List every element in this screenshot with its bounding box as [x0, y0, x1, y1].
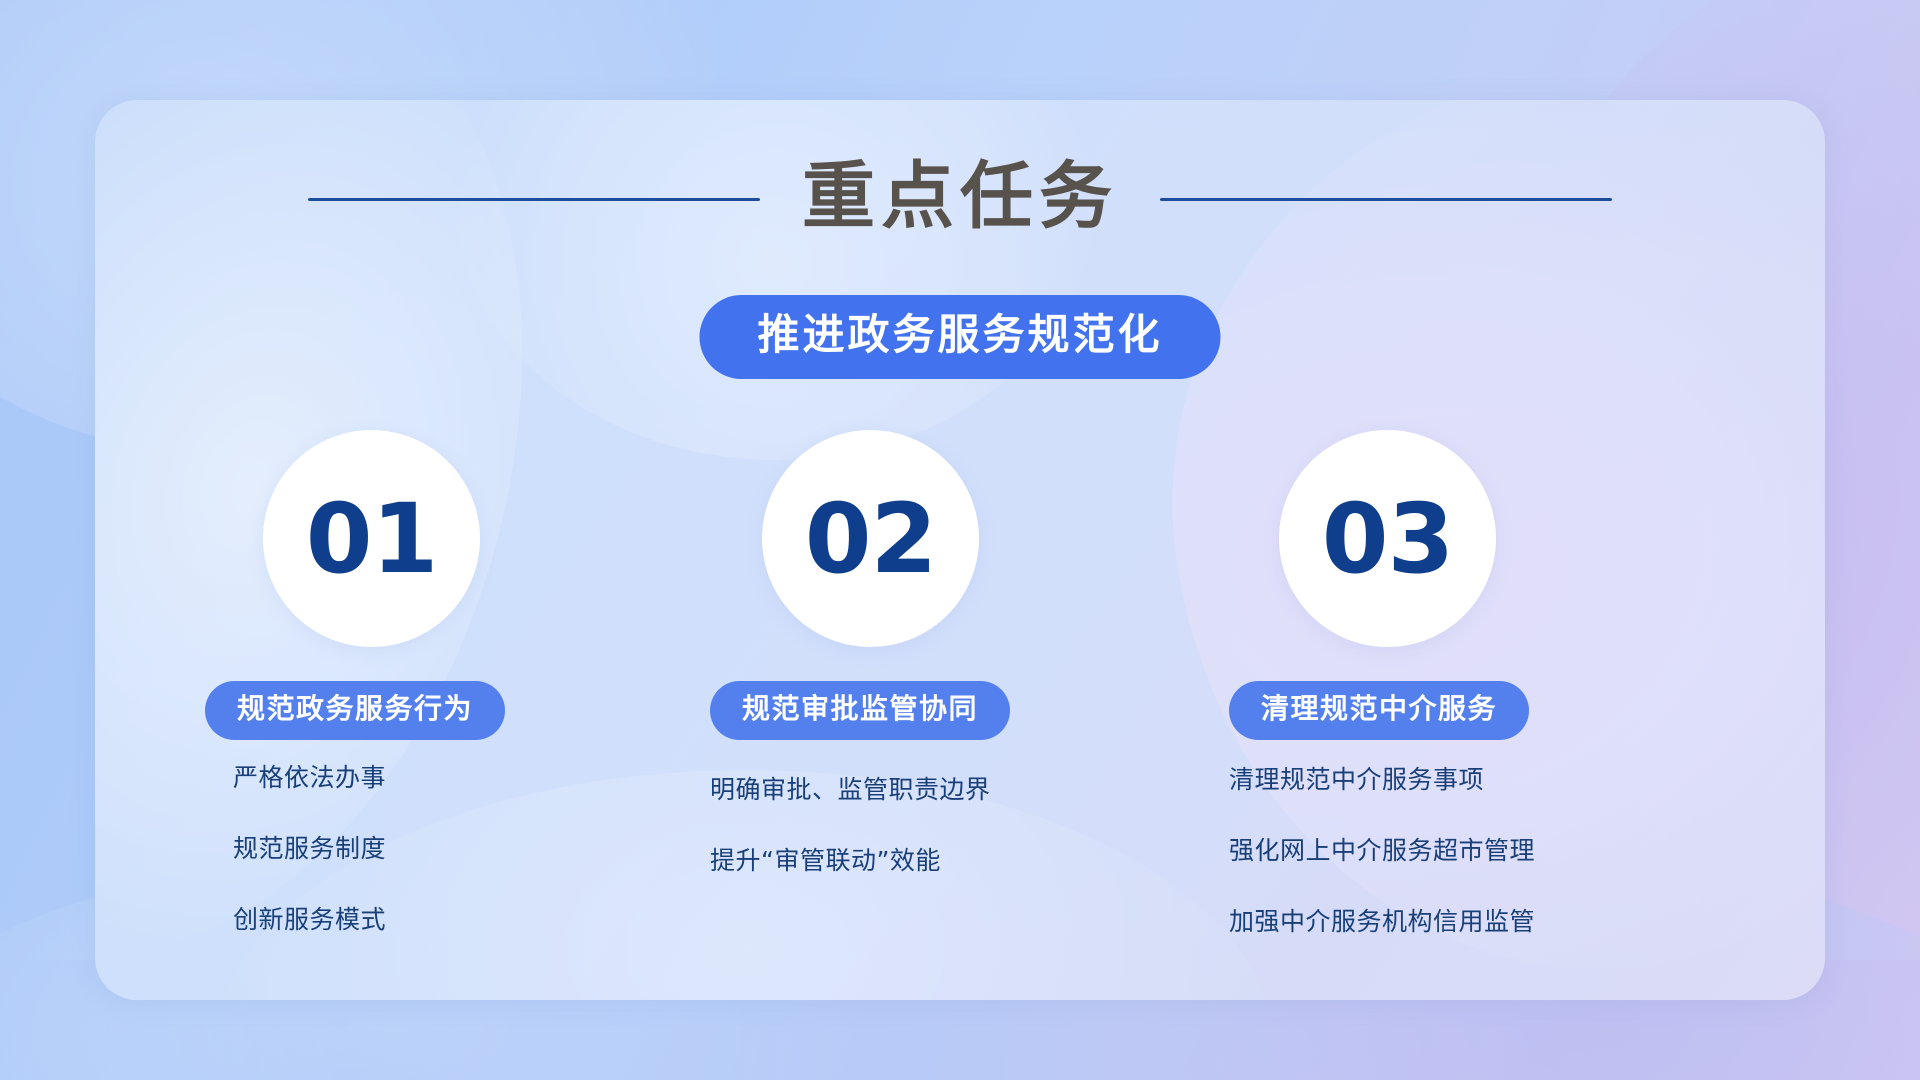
circle-number-label: 02 [805, 491, 937, 587]
number-circle-01: 01 [263, 430, 480, 647]
title-rule-right [1160, 198, 1612, 201]
task-column-03: 03 清理规范中介服务 清理规范中介服务事项 强化网上中介服务超市管理 加强中介… [1215, 430, 1715, 938]
list-item: 创新服务模式 [233, 904, 386, 935]
column-pill-01: 规范政务服务行为 [205, 681, 505, 740]
list-item: 强化网上中介服务超市管理 [1229, 835, 1535, 866]
content-card: 重点任务 推进政务服务规范化 01 规范政务服务行为 严格依法办事 规范服务制度… [95, 100, 1825, 1000]
columns-container: 01 规范政务服务行为 严格依法办事 规范服务制度 创新服务模式 02 规范审批… [205, 430, 1715, 938]
list-item: 提升“审管联动”效能 [710, 845, 991, 876]
task-list-02: 明确审批、监管职责边界 提升“审管联动”效能 [710, 774, 991, 877]
list-item: 严格依法办事 [233, 762, 386, 793]
list-item: 明确审批、监管职责边界 [710, 774, 991, 805]
list-item: 规范服务制度 [233, 833, 386, 864]
column-pill-03: 清理规范中介服务 [1229, 681, 1529, 740]
page-title: 重点任务 [802, 160, 1118, 239]
task-column-02: 02 规范审批监管协同 明确审批、监管职责边界 提升“审管联动”效能 [710, 430, 1210, 938]
list-item: 加强中介服务机构信用监管 [1229, 906, 1535, 937]
subtitle-pill: 推进政务服务规范化 [699, 295, 1220, 379]
circle-number-label: 03 [1322, 491, 1454, 587]
task-list-03: 清理规范中介服务事项 强化网上中介服务超市管理 加强中介服务机构信用监管 [1229, 764, 1535, 938]
title-rule-left [308, 198, 760, 201]
circle-number-label: 01 [306, 491, 438, 587]
number-circle-02: 02 [762, 430, 979, 647]
slide-canvas: 重点任务 推进政务服务规范化 01 规范政务服务行为 严格依法办事 规范服务制度… [0, 0, 1920, 1080]
list-item: 清理规范中介服务事项 [1229, 764, 1535, 795]
header: 重点任务 [95, 160, 1825, 239]
task-list-01: 严格依法办事 规范服务制度 创新服务模式 [233, 762, 386, 936]
number-circle-03: 03 [1279, 430, 1496, 647]
column-pill-02: 规范审批监管协同 [710, 681, 1010, 740]
task-column-01: 01 规范政务服务行为 严格依法办事 规范服务制度 创新服务模式 [205, 430, 705, 938]
